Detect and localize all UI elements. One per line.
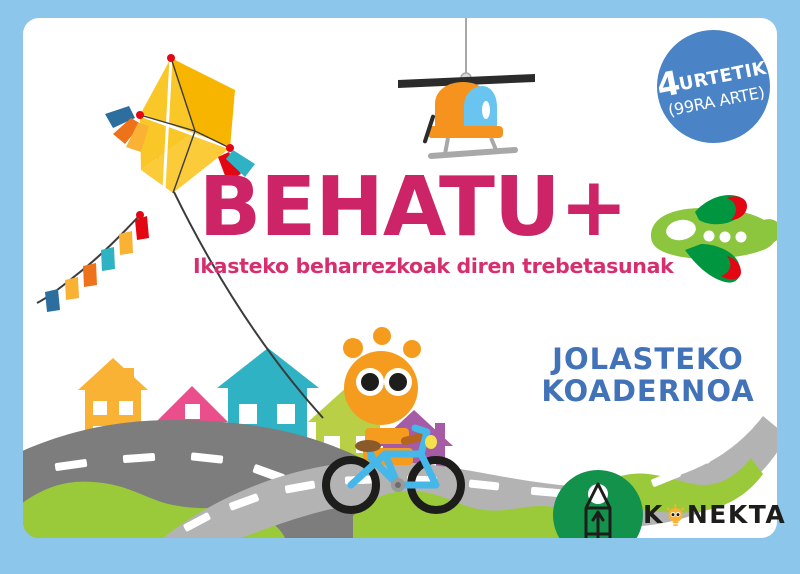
lightbulb-icon <box>664 504 687 527</box>
kite-icon <box>37 54 255 312</box>
publisher-logo-prefix: K <box>643 500 664 529</box>
series-heading-line-2: KOADERNOA <box>523 375 773 407</box>
airplane-icon <box>651 195 777 283</box>
helicopter-icon <box>398 18 535 156</box>
publisher-logo: K NEKTA <box>643 500 786 529</box>
pencil-emblem <box>553 470 643 538</box>
publisher-logo-suffix: NEKTA <box>687 500 786 529</box>
series-heading: JOLASTEKO KOADERNOA <box>523 343 773 408</box>
book-cover: BEHATU+ Ikasteko beharrezkoak diren treb… <box>0 0 800 574</box>
series-heading-line-1: JOLASTEKO <box>523 343 773 375</box>
